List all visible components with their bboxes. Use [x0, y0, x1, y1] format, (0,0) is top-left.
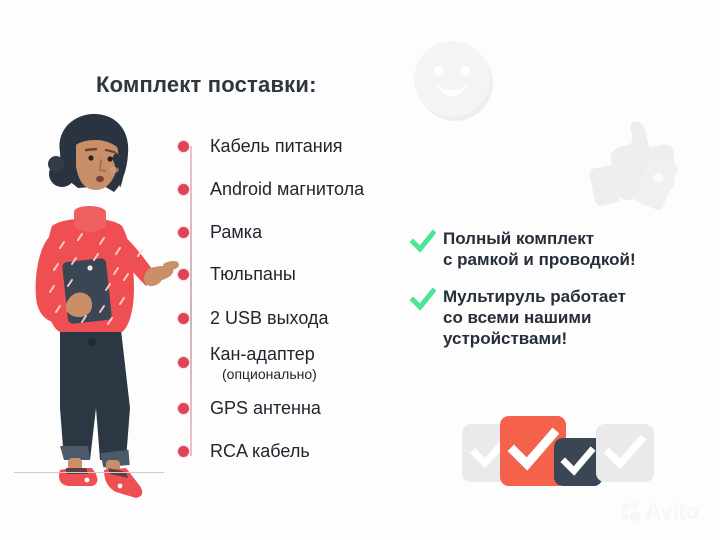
check-icon: [410, 287, 436, 313]
avito-watermark: Avito: [620, 500, 699, 523]
bullet-dot-icon: [178, 227, 189, 238]
benefit-label: Мультируль работает со всеми нашими устр…: [443, 286, 626, 349]
bullet-dot-icon: [178, 269, 189, 280]
bullet-dot-icon: [178, 403, 189, 414]
list-item-label: Кан-адаптер (опционально): [210, 344, 317, 382]
benefit-item: Полный комплект с рамкой и проводкой!: [410, 228, 710, 270]
bullet-dot-icon: [178, 184, 189, 195]
page-title: Комплект поставки:: [96, 72, 317, 98]
list-item-label: Кабель питания: [210, 136, 343, 157]
benefit-label: Полный комплект с рамкой и проводкой!: [443, 228, 636, 270]
list-item-label: Тюльпаны: [210, 264, 296, 285]
checkbox-cards-cluster: [462, 416, 652, 492]
woman-pointing-with-tablet: [8, 108, 180, 500]
list-item-sub-label: (опционально): [222, 366, 317, 382]
list-item-label: GPS антенна: [210, 398, 321, 419]
bullet-dot-icon: [178, 357, 189, 368]
promo-canvas: Комплект поставки: Кабель питания Androi…: [0, 0, 720, 540]
list-item: Кабель питания: [178, 136, 343, 157]
list-item: RCA кабель: [178, 441, 310, 462]
bullet-dot-icon: [178, 313, 189, 324]
bullet-dot-icon: [178, 141, 189, 152]
list-item-label: RCA кабель: [210, 441, 310, 462]
benefit-item: Мультируль работает со всеми нашими устр…: [410, 286, 710, 349]
avito-dots-icon: [620, 501, 642, 523]
checkbox-card-navy: [554, 438, 602, 486]
bullet-dot-icon: [178, 446, 189, 457]
check-icon: [410, 229, 436, 255]
package-contents-list: Кабель питания Android магнитола Рамка Т…: [178, 136, 428, 466]
ground-line: [14, 472, 164, 473]
list-item-label: 2 USB выхода: [210, 308, 328, 329]
list-item-label: Рамка: [210, 222, 262, 243]
list-item: GPS антенна: [178, 398, 321, 419]
avito-watermark-label: Avito: [645, 500, 699, 523]
smiley-face-icon: [410, 38, 496, 124]
list-item: Android магнитола: [178, 179, 364, 200]
check-icon: [554, 438, 602, 486]
list-item: Кан-адаптер (опционально): [178, 344, 317, 382]
list-item-label: Android магнитола: [210, 179, 364, 200]
list-item: Рамка: [178, 222, 262, 243]
checkbox-card-gray-right: [596, 424, 654, 482]
benefits-list: Полный комплект с рамкой и проводкой! Му…: [410, 228, 710, 365]
list-item: Тюльпаны: [178, 264, 296, 285]
list-item-main-label: Кан-адаптер: [210, 344, 315, 364]
list-item: 2 USB выхода: [178, 308, 328, 329]
thumbs-up-icon: [583, 118, 687, 218]
check-icon: [596, 424, 654, 482]
